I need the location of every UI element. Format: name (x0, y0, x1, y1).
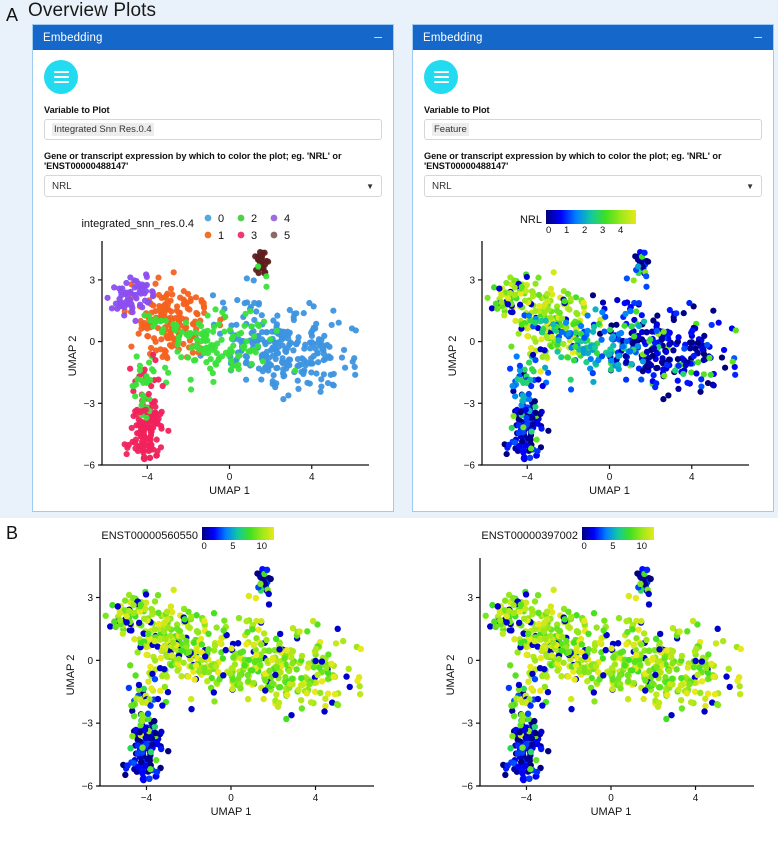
svg-text:3: 3 (251, 230, 257, 242)
card-header-left: Embedding – (33, 25, 393, 50)
color-by-label-right: Gene or transcript expression by which t… (424, 151, 762, 171)
svg-text:UMAP 1: UMAP 1 (589, 485, 630, 497)
enst560550-umap-plot: ENST00000560550051030−3−6−404UMAP 1UMAP … (32, 522, 394, 842)
panel-letter-a: A (6, 5, 18, 26)
svg-text:UMAP 2: UMAP 2 (67, 336, 79, 377)
variable-to-plot-input-right[interactable]: Feature (424, 119, 762, 140)
svg-text:0: 0 (467, 656, 473, 667)
svg-text:4: 4 (689, 472, 695, 483)
svg-text:−4: −4 (141, 793, 153, 804)
chevron-down-icon: ▼ (746, 182, 754, 191)
chevron-down-icon: ▼ (366, 182, 374, 191)
svg-text:1: 1 (218, 230, 224, 242)
svg-text:0: 0 (87, 656, 93, 667)
svg-text:integrated_snn_res.0.4: integrated_snn_res.0.4 (81, 218, 194, 230)
svg-text:ENST00000397002: ENST00000397002 (481, 530, 578, 542)
svg-text:ENST00000560550: ENST00000560550 (101, 530, 198, 542)
svg-text:3: 3 (87, 593, 93, 604)
svg-text:4: 4 (693, 793, 699, 804)
cluster-umap-plot: integrated_snn_res.0.402413530−3−6−404UM… (44, 205, 382, 510)
card-body-right: Variable to Plot Feature Gene or transcr… (413, 50, 773, 511)
svg-text:−6: −6 (82, 782, 94, 793)
variable-to-plot-value-left: Integrated Snn Res.0.4 (52, 123, 154, 136)
svg-text:0: 0 (582, 541, 587, 552)
svg-text:UMAP 1: UMAP 1 (591, 806, 632, 818)
svg-text:NRL: NRL (520, 214, 542, 226)
nrl-umap-plot: NRL0123430−3−6−404UMAP 1UMAP 2 (424, 205, 762, 510)
svg-text:−3: −3 (84, 399, 96, 410)
cluster-umap-svg: integrated_snn_res.0.402413530−3−6−404UM… (44, 205, 384, 510)
color-by-value-right: NRL (432, 181, 452, 192)
svg-text:0: 0 (469, 337, 475, 348)
svg-text:10: 10 (636, 541, 647, 552)
svg-text:0: 0 (546, 225, 551, 236)
svg-text:−6: −6 (84, 461, 96, 472)
svg-text:UMAP 2: UMAP 2 (447, 336, 459, 377)
svg-text:10: 10 (256, 541, 267, 552)
svg-text:UMAP 1: UMAP 1 (209, 485, 250, 497)
svg-text:0: 0 (228, 793, 234, 804)
svg-text:−6: −6 (464, 461, 476, 472)
card-body-left: Variable to Plot Integrated Snn Res.0.4 … (33, 50, 393, 511)
svg-text:3: 3 (600, 225, 605, 236)
svg-text:2: 2 (582, 225, 587, 236)
svg-text:5: 5 (230, 541, 235, 552)
svg-text:0: 0 (607, 472, 613, 483)
card-title-left: Embedding (43, 32, 103, 44)
svg-text:−4: −4 (142, 472, 154, 483)
svg-text:4: 4 (309, 472, 315, 483)
svg-text:0: 0 (608, 793, 614, 804)
variable-to-plot-value-right: Feature (432, 123, 469, 136)
color-by-select-right[interactable]: NRL ▼ (424, 175, 762, 197)
svg-text:−3: −3 (462, 719, 474, 730)
svg-text:−3: −3 (82, 719, 94, 730)
svg-text:4: 4 (284, 213, 290, 225)
enst560550-umap-svg: ENST00000560550051030−3−6−404UMAP 1UMAP … (32, 522, 394, 842)
svg-text:−6: −6 (462, 782, 474, 793)
svg-text:3: 3 (89, 275, 95, 286)
svg-text:UMAP 1: UMAP 1 (211, 806, 252, 818)
svg-text:−3: −3 (464, 399, 476, 410)
svg-text:0: 0 (227, 472, 233, 483)
svg-text:1: 1 (564, 225, 569, 236)
variable-to-plot-label-right: Variable to Plot (424, 105, 762, 115)
enst397002-umap-svg: ENST00000397002051030−3−6−404UMAP 1UMAP … (412, 522, 774, 842)
svg-text:0: 0 (89, 337, 95, 348)
svg-text:4: 4 (313, 793, 319, 804)
embedding-card-left: Embedding – Variable to Plot Integrated … (32, 24, 394, 512)
variable-to-plot-input-left[interactable]: Integrated Snn Res.0.4 (44, 119, 382, 140)
svg-text:−4: −4 (521, 793, 533, 804)
svg-text:UMAP 2: UMAP 2 (65, 655, 77, 696)
minimize-button-left[interactable]: – (372, 31, 384, 45)
svg-text:UMAP 2: UMAP 2 (445, 655, 457, 696)
svg-text:0: 0 (218, 213, 224, 225)
card-title-right: Embedding (423, 32, 483, 44)
svg-text:5: 5 (284, 230, 290, 242)
variable-to-plot-label-left: Variable to Plot (44, 105, 382, 115)
svg-text:4: 4 (618, 225, 623, 236)
color-by-select-left[interactable]: NRL ▼ (44, 175, 382, 197)
color-by-value-left: NRL (52, 181, 72, 192)
svg-text:5: 5 (610, 541, 615, 552)
svg-text:3: 3 (467, 593, 473, 604)
svg-text:2: 2 (251, 213, 257, 225)
nrl-umap-svg: NRL0123430−3−6−404UMAP 1UMAP 2 (424, 205, 764, 510)
card-header-right: Embedding – (413, 25, 773, 50)
page-title: Overview Plots (28, 0, 156, 22)
panel-letter-b: B (6, 523, 18, 544)
color-by-label-left: Gene or transcript expression by which t… (44, 151, 382, 171)
hamburger-icon[interactable] (44, 60, 78, 94)
svg-text:−4: −4 (522, 472, 534, 483)
minimize-button-right[interactable]: – (752, 31, 764, 45)
svg-text:0: 0 (202, 541, 207, 552)
enst397002-umap-plot: ENST00000397002051030−3−6−404UMAP 1UMAP … (412, 522, 774, 842)
svg-text:3: 3 (469, 275, 475, 286)
hamburger-icon[interactable] (424, 60, 458, 94)
embedding-card-right: Embedding – Variable to Plot Feature Gen… (412, 24, 774, 512)
